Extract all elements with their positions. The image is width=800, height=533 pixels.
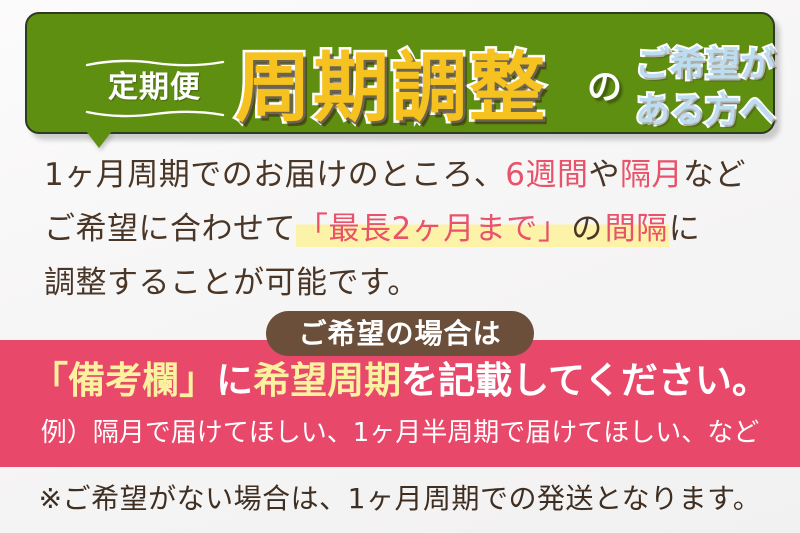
- header-banner-area: 定期便 周期調整 の ご希望が ある方へ: [0, 0, 800, 150]
- pink-headline: 「備考欄」に希望周期を記載してください。: [0, 362, 800, 399]
- wavy-rule-top-icon: [85, 59, 225, 68]
- pink-headline-part-d: を記載してください。: [401, 359, 769, 402]
- footer-note: ※ご希望がない場合は、1ヶ月周期での発送となります。: [0, 485, 800, 513]
- subscription-badge-label: 定期便: [108, 68, 201, 109]
- pink-headline-emphasis-remarks: 「備考欄」: [31, 359, 216, 402]
- banner-title-particle: の: [587, 71, 622, 106]
- pink-example-text: 例）隔月で届けてほしい、1ヶ月半周期で届けてほしい、など: [0, 420, 800, 446]
- banner-subtitle-line-1: ご希望が: [635, 42, 775, 88]
- subscription-badge: 定期便: [82, 42, 227, 134]
- promo-banner-page: 定期便 周期調整 の ご希望が ある方へ 1ヶ月周期でのお届けのところ、6週間や…: [0, 0, 800, 533]
- body-line2-emphasis-interval: 間隔: [604, 211, 669, 247]
- body-line1-part-a: 1ヶ月周期でのお届けのところ、: [44, 157, 505, 193]
- body-line2-emphasis-maxperiod: 「最長2ヶ月まで」: [296, 211, 570, 247]
- green-banner: 定期便 周期調整 の ご希望が ある方へ: [25, 12, 775, 134]
- body-copy-line-1: 1ヶ月周期でのお届けのところ、6週間や隔月など: [44, 148, 800, 202]
- body-copy: 1ヶ月周期でのお届けのところ、6週間や隔月など ご希望に合わせて「最長2ヶ月まで…: [0, 148, 800, 308]
- body-copy-line-3: 調整することが可能です。: [44, 256, 800, 310]
- pink-headline-emphasis-cycle: 希望周期: [253, 359, 401, 402]
- wavy-rule-bottom-icon: [85, 109, 225, 118]
- banner-subtitle: ご希望が ある方へ: [635, 40, 797, 136]
- pink-headline-part-b: に: [216, 359, 253, 402]
- request-case-badge-label: ご希望の場合は: [298, 320, 501, 348]
- request-case-badge: ご希望の場合は: [266, 311, 534, 356]
- banner-tail-icon: [86, 131, 112, 148]
- body-line1-part-e: など: [683, 157, 746, 193]
- body-line2-part-a: ご希望に合わせて: [44, 211, 296, 247]
- body-line1-emphasis-bimonthly: 隔月: [620, 157, 683, 193]
- body-line1-part-c: や: [588, 157, 620, 193]
- body-copy-line-2: ご希望に合わせて「最長2ヶ月まで」の間隔に: [44, 202, 800, 256]
- body-line1-emphasis-6weeks: 6週間: [505, 157, 588, 193]
- banner-subtitle-line-2: ある方へ: [635, 88, 775, 134]
- body-line2-part-e: に: [669, 211, 701, 247]
- banner-title: 周期調整: [235, 32, 547, 144]
- pink-callout-band: 「備考欄」に希望周期を記載してください。 例）隔月で届けてほしい、1ヶ月半周期で…: [0, 340, 800, 467]
- body-line2-part-c: の: [570, 211, 604, 247]
